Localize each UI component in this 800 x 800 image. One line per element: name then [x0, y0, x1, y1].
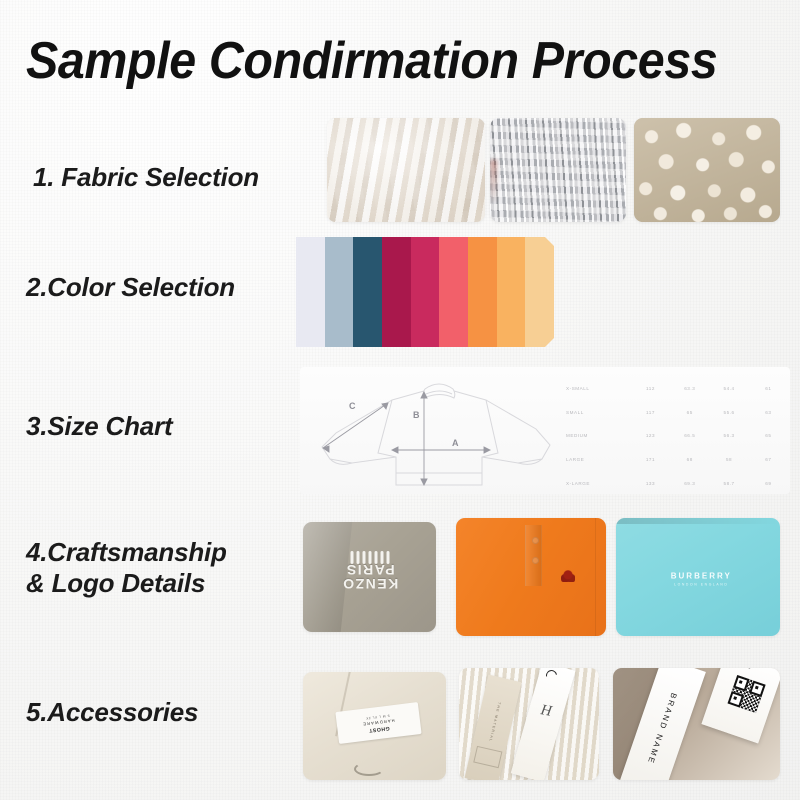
size-chart-panel: A B C X-SMALL 112 63.3 54.4 61 SMALL 117…: [300, 367, 790, 494]
polo-button: [532, 557, 539, 564]
table-row: LARGE 171 68 58 67: [562, 457, 790, 462]
burberry-brand-line1: BURBERRY: [671, 572, 732, 581]
polo-button: [532, 537, 539, 544]
care-label: GHOST HARDWARE S M L XL 2X: [336, 702, 422, 744]
color-palette-strip[interactable]: [296, 237, 554, 347]
color-swatch-2[interactable]: [325, 237, 354, 347]
boucle-texture: [634, 118, 780, 222]
size-value: 66.5: [670, 433, 709, 438]
size-value: 117: [631, 410, 670, 415]
size-value: 68: [670, 457, 709, 462]
step-label-fabric-selection: 1. Fabric Selection: [33, 162, 259, 193]
drawcord: [354, 762, 384, 776]
color-swatch-7[interactable]: [468, 237, 497, 347]
hang-tag-pair-photo[interactable]: THE MATERIAL H: [459, 668, 599, 780]
sample-confirmation-poster: Sample Condirmation Process 1. Fabric Se…: [0, 0, 800, 800]
size-value: 55.6: [709, 410, 748, 415]
size-value: 65: [749, 433, 788, 438]
kenzo-wordmark: KENZO PARIS: [341, 563, 398, 591]
size-name: X-LARGE: [566, 481, 631, 486]
sweatshirt-technical-drawing: A B C: [300, 367, 568, 494]
brand-name-text: BRAND NAME: [645, 692, 678, 766]
hoodie-interior: GHOST HARDWARE S M L XL 2X: [303, 672, 446, 780]
size-value: 69.3: [670, 481, 709, 486]
measure-label-a: A: [452, 438, 459, 448]
burberry-wordmark: BURBERRY LONDON ENGLAND: [671, 572, 732, 587]
table-row: MEDIUM 123 66.5 56.3 65: [562, 433, 790, 438]
wavy-ribbed-texture: [490, 118, 626, 222]
size-value: 65: [670, 410, 709, 415]
qr-hang-tag: [702, 668, 780, 743]
cable-knit-fabric-swatch[interactable]: [327, 118, 485, 222]
shoulder-seam: [595, 518, 596, 636]
burberry-brand-line2: LONDON ENGLAND: [671, 583, 732, 587]
table-row: X-LARGE 133 69.3 58.7 69: [562, 481, 790, 486]
color-swatch-6[interactable]: [439, 237, 468, 347]
measure-label-b: B: [413, 410, 420, 420]
size-value: 63: [749, 410, 788, 415]
kenzo-brand-line1: KENZO: [341, 577, 398, 591]
kenzo-garment: KENZO PARIS: [303, 522, 436, 632]
step-label-color-selection: 2.Color Selection: [26, 272, 235, 303]
orange-polo-placket-detail[interactable]: [456, 518, 606, 636]
size-chart-table: X-SMALL 112 63.3 54.4 61 SMALL 117 65 55…: [562, 373, 790, 499]
size-name: X-SMALL: [566, 386, 631, 391]
color-swatch-1[interactable]: [296, 237, 325, 347]
size-name: LARGE: [566, 457, 631, 462]
brand-name-hang-tag-photo[interactable]: BRAND NAME: [613, 668, 780, 780]
size-value: 56.3: [709, 433, 748, 438]
knit-with-hangtags: THE MATERIAL H: [459, 668, 599, 780]
embroidered-crest-icon: [561, 570, 575, 582]
color-swatch-9[interactable]: [525, 237, 554, 347]
table-row: X-SMALL 112 63.3 54.4 61: [562, 386, 790, 391]
garment-edge: [616, 518, 780, 524]
color-swatch-4[interactable]: [382, 237, 411, 347]
orange-polo: [456, 518, 606, 636]
size-name: MEDIUM: [566, 433, 631, 438]
wavy-ribbed-fabric-swatch[interactable]: [490, 118, 626, 222]
size-value: 63.3: [670, 386, 709, 391]
size-value: 69: [749, 481, 788, 486]
step-label-size-chart: 3.Size Chart: [26, 411, 172, 442]
size-value: 54.4: [709, 386, 748, 391]
hang-tag-microtext: THE MATERIAL: [488, 701, 501, 742]
boucle-fabric-swatch[interactable]: [634, 118, 780, 222]
step-label-accessories: 5.Accessories: [26, 697, 198, 728]
burberry-garment: BURBERRY LONDON ENGLAND: [616, 518, 780, 636]
woven-care-label-photo[interactable]: GHOST HARDWARE S M L XL 2X: [303, 672, 446, 780]
size-value: 123: [631, 433, 670, 438]
cable-knit-texture: [327, 118, 485, 222]
polo-placket: [525, 525, 542, 586]
step-label-craftsmanship-logo-details: 4.Craftsmanship & Logo Details: [26, 537, 227, 599]
brand-tag-scene: BRAND NAME: [613, 668, 780, 780]
size-name: SMALL: [566, 410, 631, 415]
burberry-print-detail[interactable]: BURBERRY LONDON ENGLAND: [616, 518, 780, 636]
signature-mark: H: [540, 701, 554, 720]
page-title: Sample Condirmation Process: [26, 33, 733, 89]
size-value: 112: [631, 386, 670, 391]
size-value: 58.7: [709, 481, 748, 486]
hang-tag-box: [473, 746, 501, 768]
table-row: SMALL 117 65 55.6 63: [562, 410, 790, 415]
kenzo-print-detail[interactable]: KENZO PARIS: [303, 522, 436, 632]
kenzo-brand-line2: PARIS: [341, 563, 398, 577]
color-swatch-8[interactable]: [497, 237, 526, 347]
size-value: 171: [631, 457, 670, 462]
color-swatch-5[interactable]: [411, 237, 440, 347]
size-value: 61: [749, 386, 788, 391]
size-value: 67: [749, 457, 788, 462]
color-swatch-3[interactable]: [353, 237, 382, 347]
measure-label-c: C: [349, 401, 356, 411]
size-value: 133: [631, 481, 670, 486]
qr-code-icon: [728, 674, 766, 712]
size-value: 58: [709, 457, 748, 462]
